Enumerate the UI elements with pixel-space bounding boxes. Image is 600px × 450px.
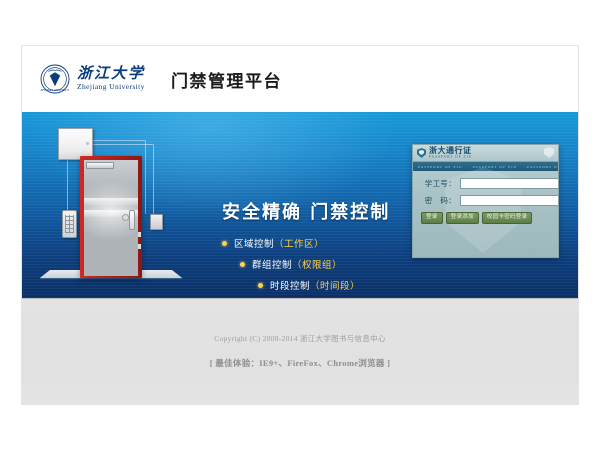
university-logo[interactable]: ZHEJIANG UNIVERSITY 浙江大学 Zhejiang Univer… [40, 64, 145, 94]
login-brand-en: PASSPORT OF ZJU [429, 156, 472, 160]
login-panel: 浙大通行证 PASSPORT OF ZJU PASSPORT OF ZJU PA… [412, 144, 559, 258]
wire-icon [91, 144, 153, 145]
wire-icon [67, 158, 68, 210]
login-button-group: 登录 登录添加 校园卡密码登录 [419, 212, 552, 224]
shield-icon [417, 148, 426, 158]
password-row: 密 码： [419, 195, 552, 206]
door-hinge-icon [138, 244, 141, 249]
page-card: ZHEJIANG UNIVERSITY 浙江大学 Zhejiang Univer… [22, 46, 578, 404]
login-brand: 浙大通行证 PASSPORT OF ZJU [429, 147, 472, 160]
banner-headline: 安全精确 门禁控制 [222, 198, 390, 224]
login-button[interactable]: 登录 [421, 212, 443, 224]
login-form: 学工号： 密 码： 登录 登录添加 校园卡密码登录 [413, 171, 558, 228]
university-name-en: Zhejiang University [77, 82, 145, 92]
strip-text: PASSPORT OF ZJU [522, 165, 558, 169]
feature-item-time: 时段控制 （时间段） [258, 278, 360, 292]
login-add-button[interactable]: 登录添加 [446, 212, 479, 224]
login-panel-strip: PASSPORT OF ZJU PASSPORT OF ZJU PASSPORT… [413, 162, 558, 171]
site-header: ZHEJIANG UNIVERSITY 浙江大学 Zhejiang Univer… [22, 46, 578, 112]
password-input[interactable] [460, 195, 559, 206]
userid-row: 学工号： [419, 178, 552, 189]
feature-label: 时段控制 [270, 278, 310, 292]
wire-icon [153, 144, 154, 214]
hero-banner: 安全精确 门禁控制 区域控制 （工作区） 群组控制 （权限组） 时段控制 （时间… [22, 112, 578, 298]
userid-label: 学工号： [419, 178, 456, 189]
access-control-door-illustration [40, 118, 190, 294]
feature-item-group: 群组控制 （权限组） [240, 257, 360, 271]
page-root: ZHEJIANG UNIVERSITY 浙江大学 Zhejiang Univer… [0, 0, 600, 450]
shield-watermark-icon [544, 147, 554, 158]
login-brand-cn: 浙大通行证 [429, 147, 472, 155]
copyright-text: Copyright (C) 2008-2014 浙江大学图书与信息中心 [22, 333, 578, 344]
bullet-dot-icon [240, 262, 245, 267]
browser-support-text: [ 最佳体验：IE9+、FireFox、Chrome浏览器 ] [22, 357, 578, 369]
door-frame [80, 156, 142, 278]
door-handle-icon [129, 210, 135, 230]
feature-label: 区域控制 [234, 236, 274, 250]
strip-text: PASSPORT OF ZJU [413, 165, 468, 169]
feature-item-area: 区域控制 （工作区） [222, 236, 360, 250]
wire-icon [145, 140, 146, 214]
card-reader-icon [150, 214, 163, 230]
university-name-cn: 浙江大学 [77, 67, 145, 82]
feature-highlight: （权限组） [292, 257, 342, 271]
page-title: 门禁管理平台 [171, 67, 282, 92]
feature-list: 区域控制 （工作区） 群组控制 （权限组） 时段控制 （时间段） [222, 236, 360, 298]
strip-text: PASSPORT OF ZJU [468, 165, 523, 169]
userid-input[interactable] [460, 178, 559, 189]
zju-seal-icon: ZHEJIANG UNIVERSITY [40, 64, 70, 94]
door-hinge-icon [138, 232, 141, 237]
bullet-dot-icon [222, 241, 227, 246]
door-closer-icon [86, 162, 114, 169]
bullet-dot-icon [258, 283, 263, 288]
wire-icon [91, 140, 145, 141]
login-panel-header: 浙大通行证 PASSPORT OF ZJU [413, 145, 558, 162]
svg-text:ZHEJIANG UNIVERSITY: ZHEJIANG UNIVERSITY [41, 88, 70, 92]
door-knob-icon [122, 214, 129, 221]
password-label: 密 码： [419, 195, 456, 206]
feature-highlight: （工作区） [274, 236, 324, 250]
door-highlight-band [84, 198, 138, 205]
site-footer: Copyright (C) 2008-2014 浙江大学图书与信息中心 [ 最佳… [22, 298, 578, 404]
keypad-reader-icon [62, 210, 77, 238]
university-name: 浙江大学 Zhejiang University [77, 67, 145, 92]
feature-label: 群组控制 [252, 257, 292, 271]
feature-highlight: （时间段） [310, 278, 360, 292]
campus-card-login-button[interactable]: 校园卡密码登录 [482, 212, 533, 224]
